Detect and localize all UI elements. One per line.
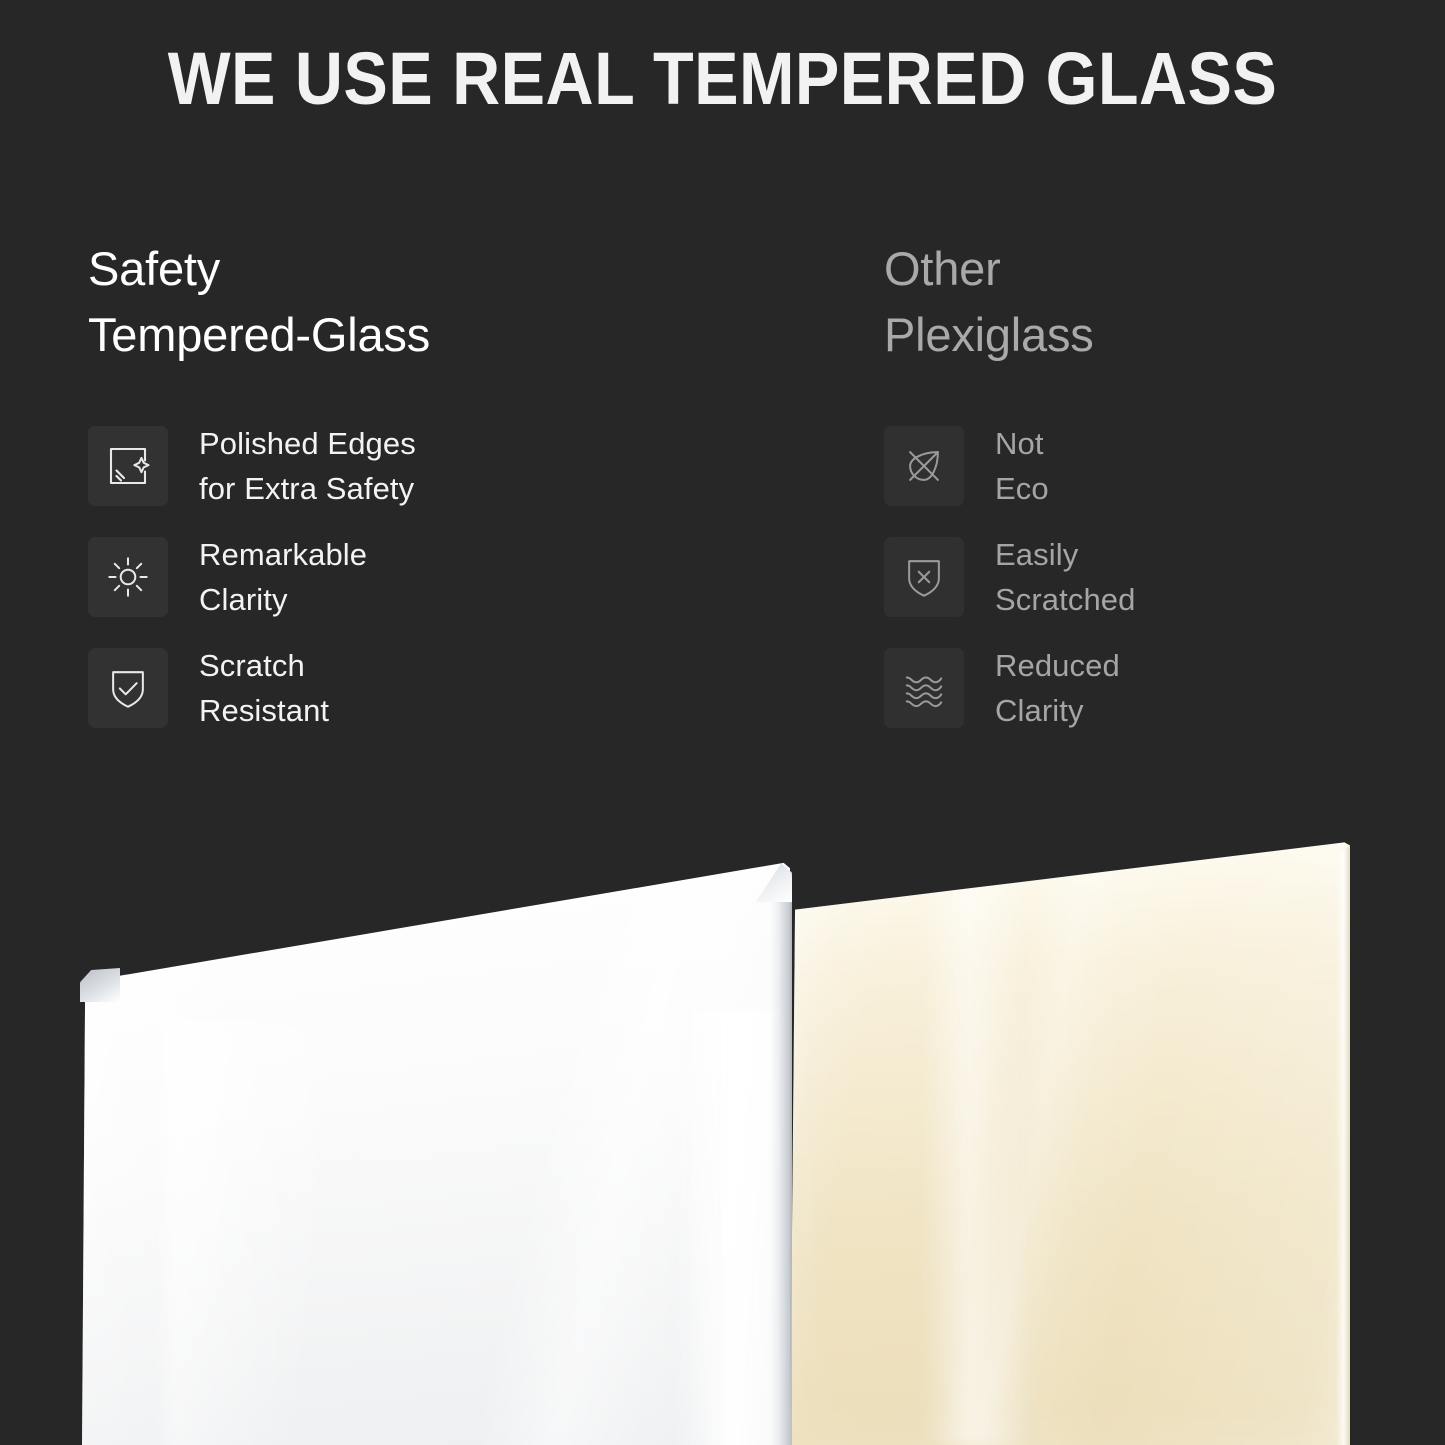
feature-row-not-eco: Not Eco [884, 426, 1404, 506]
feature-row-reduced-clarity: Reduced Clarity [884, 648, 1404, 728]
feature-row-scratch-resistant: Scratch Resistant [88, 648, 828, 728]
tempered-glass-top-bevel [82, 860, 790, 1005]
column-other-plexiglass: Other Plexiglass Not Eco Easily Scratche… [884, 236, 1404, 759]
feature-label: Polished Edges for Extra Safety [199, 421, 416, 511]
leaf-crossed-out-icon [884, 426, 964, 506]
tempered-glass-left-sheen [164, 1020, 394, 1445]
sun-brightness-icon [88, 537, 168, 617]
column-safety-tempered-glass: Safety Tempered-Glass Polished Edges for… [88, 236, 828, 759]
tempered-glass-top-left-corner [80, 968, 120, 1002]
feature-label: Scratch Resistant [199, 643, 329, 733]
tempered-glass-right-bevel [770, 862, 792, 1445]
shield-x-icon [884, 537, 964, 617]
feature-row-easily-scratched: Easily Scratched [884, 537, 1404, 617]
shield-check-icon [88, 648, 168, 728]
feature-row-polished-edges: Polished Edges for Extra Safety [88, 426, 828, 506]
plexiglass-panel [790, 840, 1350, 1445]
feature-label: Reduced Clarity [995, 643, 1120, 733]
glass-comparison-photo [0, 840, 1445, 1445]
page-title: WE USE REAL TEMPERED GLASS [72, 36, 1373, 122]
plexiglass-right-edge [1336, 840, 1350, 1445]
column-title-right: Other Plexiglass [884, 236, 1404, 368]
plexiglass-sheen [920, 880, 1030, 1445]
column-title-left: Safety Tempered-Glass [88, 236, 828, 368]
polished-edge-sparkle-icon [88, 426, 168, 506]
wavy-lines-icon [884, 648, 964, 728]
feature-label: Remarkable Clarity [199, 532, 367, 622]
feature-label: Easily Scratched [995, 532, 1135, 622]
comparison-infographic: WE USE REAL TEMPERED GLASS Safety Temper… [0, 0, 1445, 1445]
feature-label: Not Eco [995, 421, 1049, 511]
feature-row-remarkable-clarity: Remarkable Clarity [88, 537, 828, 617]
